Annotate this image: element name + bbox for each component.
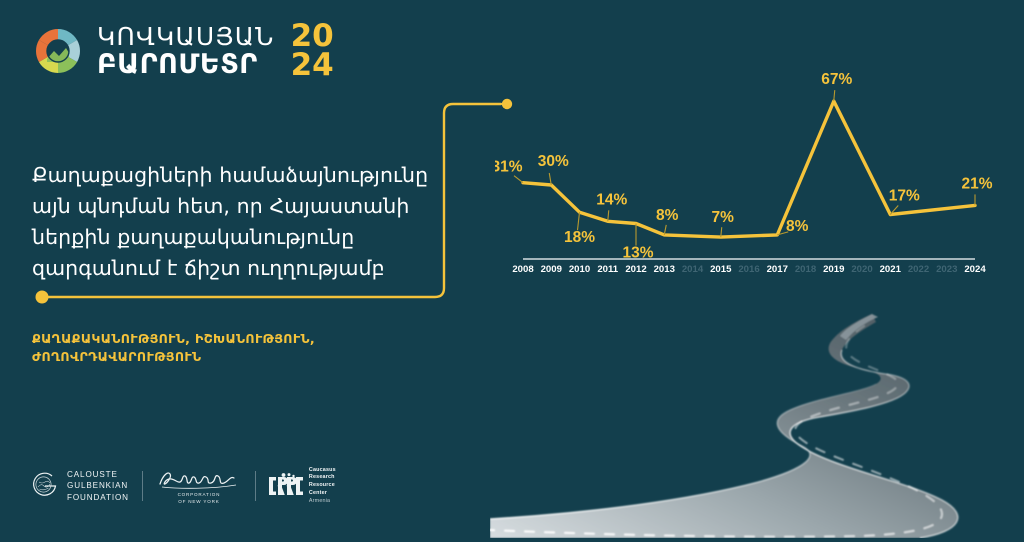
carnegie-sub-2: OF NEW YORK xyxy=(178,499,221,506)
category-line-2: ԺՈՂՈՎՐԴԱՎԱՐՈՒԹՅՈՒՆ xyxy=(32,348,452,366)
poster-canvas: ԿՈՎԿԱՍՅԱՆ ԲԱՐՈՄԵՏՐ 20 24 Քաղաքացիների հա… xyxy=(0,0,1024,538)
cgf-line-3: FOUNDATION xyxy=(67,492,129,503)
brand-line-1: ԿՈՎԿԱՍՅԱՆ xyxy=(97,24,275,49)
x-tick-2008: 2008 xyxy=(512,264,534,275)
x-tick-2015: 2015 xyxy=(710,264,732,275)
point-label-2021: 17% xyxy=(889,187,920,204)
cgf-line-2: GULBENKIAN xyxy=(67,480,129,491)
leader-line-2008 xyxy=(514,176,523,183)
chart-x-tick-labels: 2008200920102011201220132014201520162017… xyxy=(512,264,986,275)
x-tick-2022: 2022 xyxy=(908,264,929,275)
gulbenkian-seal-icon xyxy=(30,471,60,501)
logo-divider-1 xyxy=(142,471,143,501)
partner-logos: CALOUSTE GULBENKIAN FOUNDATION CORPORATI… xyxy=(30,462,336,510)
logo-carnegie-corporation: CORPORATION OF NEW YORK xyxy=(156,464,242,508)
x-tick-2024: 2024 xyxy=(964,264,986,275)
x-tick-2012: 2012 xyxy=(625,264,646,275)
point-label-2008: 31% xyxy=(495,159,523,176)
point-label-2013: 8% xyxy=(656,207,679,224)
line-chart: 31%30%18%14%13%8%7%8%67%17%21% 200820092… xyxy=(495,45,995,285)
chart-point-labels: 31%30%18%14%13%8%7%8%67%17%21% xyxy=(495,71,993,261)
caucasus-barometer-mark-icon xyxy=(32,25,84,77)
headline-text: Քաղաքացիների համաձայնությունը այն պնդման… xyxy=(32,160,442,285)
x-tick-2023: 2023 xyxy=(936,264,957,275)
crrc-monogram-icon xyxy=(269,473,303,499)
connector-start-dot xyxy=(36,291,49,304)
brand-year-bottom: 24 xyxy=(291,51,334,80)
chart-series-line xyxy=(523,101,975,237)
leader-line-2019 xyxy=(834,90,835,101)
x-tick-2017: 2017 xyxy=(767,264,788,275)
winding-road-illustration xyxy=(490,300,1024,538)
chart-leader-lines xyxy=(514,90,975,245)
x-tick-2020: 2020 xyxy=(851,264,872,275)
point-label-2015: 7% xyxy=(712,209,735,226)
donut-logo-icon xyxy=(32,25,84,77)
x-tick-2018: 2018 xyxy=(795,264,817,275)
point-label-2019: 67% xyxy=(821,71,852,88)
brand-line-2: ԲԱՐՈՄԵՏՐ xyxy=(97,51,275,78)
crrc-line-4: Center xyxy=(309,490,336,498)
leader-line-2010 xyxy=(578,212,580,230)
crrc-line-2: Research xyxy=(309,474,336,482)
crrc-line-1: Caucasus xyxy=(309,467,336,475)
cgf-line-1: CALOUSTE xyxy=(67,469,129,480)
point-label-2009: 30% xyxy=(538,153,569,170)
logo-divider-2 xyxy=(255,471,256,501)
logo-calouste-gulbenkian-foundation: CALOUSTE GULBENKIAN FOUNDATION xyxy=(30,464,129,508)
logo-crrc-armenia: Caucasus Research Resource Center Armeni… xyxy=(269,464,336,508)
crrc-line-5: Armenia xyxy=(309,498,336,506)
x-tick-2013: 2013 xyxy=(654,264,675,275)
x-tick-2009: 2009 xyxy=(541,264,562,275)
brand-year: 20 24 xyxy=(291,22,334,81)
brand-wordmark: ԿՈՎԿԱՍՅԱՆ ԲԱՐՈՄԵՏՐ 20 24 xyxy=(97,22,334,81)
x-tick-2011: 2011 xyxy=(597,264,618,275)
road-svg xyxy=(490,300,1024,538)
category-label: ՔԱՂԱՔԱԿԱՆՈՒԹՅՈՒՆ, ԻՇԽԱՆՈՒԹՅՈՒՆ, ԺՈՂՈՎՐԴԱ… xyxy=(32,330,452,367)
point-label-2010: 18% xyxy=(564,229,595,246)
x-tick-2021: 2021 xyxy=(880,264,902,275)
x-tick-2019: 2019 xyxy=(823,264,844,275)
leader-line-2011 xyxy=(608,210,609,221)
category-line-1: ՔԱՂԱՔԱԿԱՆՈՒԹՅՈՒՆ, ԻՇԽԱՆՈՒԹՅՈՒՆ, xyxy=(32,330,452,348)
crrc-line-3: Resource xyxy=(309,482,336,490)
chart-svg: 31%30%18%14%13%8%7%8%67%17%21% 200820092… xyxy=(495,45,995,285)
x-tick-2014: 2014 xyxy=(682,264,704,275)
brand-logo: ԿՈՎԿԱՍՅԱՆ ԲԱՐՈՄԵՏՐ 20 24 xyxy=(32,22,334,81)
x-tick-2010: 2010 xyxy=(569,264,590,275)
point-label-2024: 21% xyxy=(961,175,992,192)
carnegie-script-wordmark-icon xyxy=(156,467,242,491)
x-tick-2016: 2016 xyxy=(738,264,759,275)
point-label-2017: 8% xyxy=(786,218,809,235)
point-label-2011: 14% xyxy=(596,191,627,208)
carnegie-sub-1: CORPORATION xyxy=(178,492,221,499)
